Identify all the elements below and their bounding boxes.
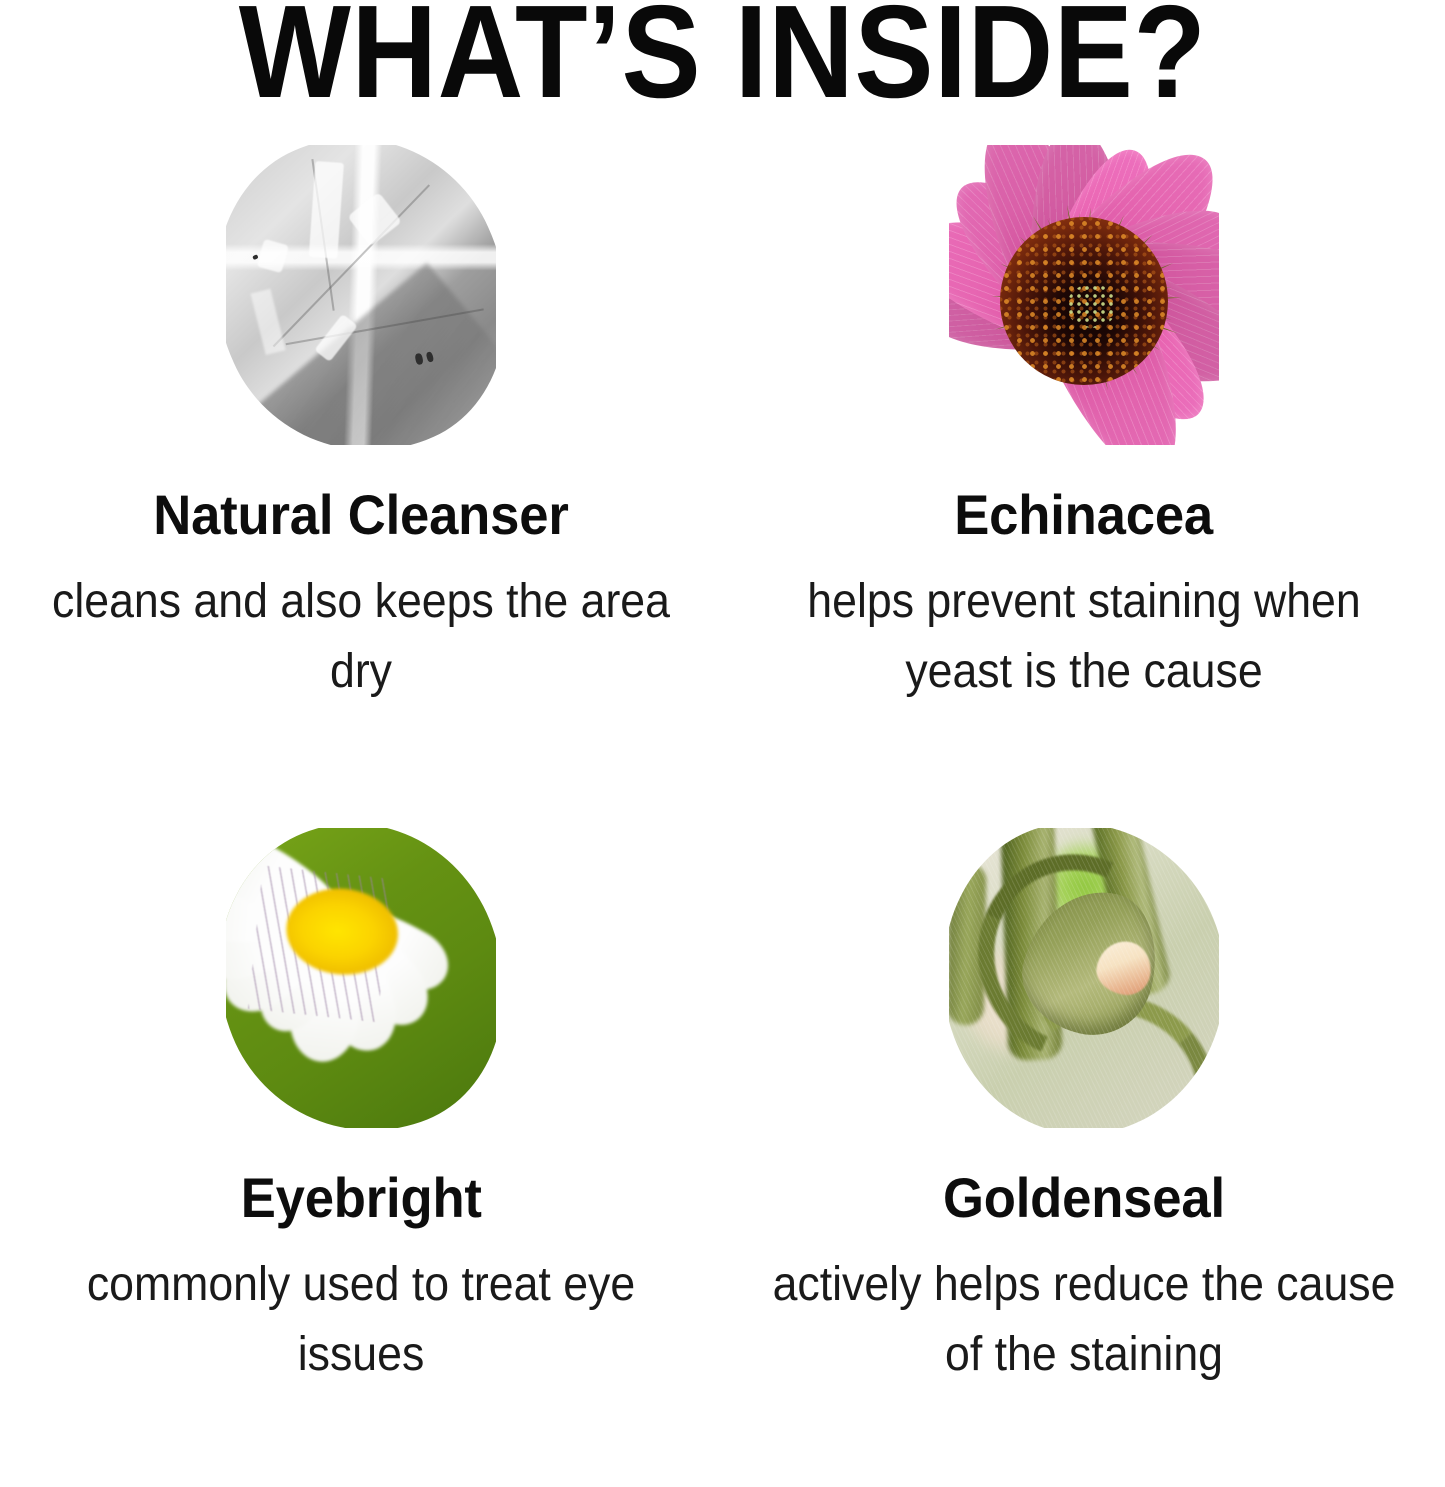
- ingredient-description: helps prevent staining when yeast is the…: [758, 567, 1409, 708]
- goldenseal-plant-image: [949, 828, 1219, 1128]
- echinacea-flower-image: [949, 145, 1219, 445]
- ingredient-card-natural-cleanser: Natural Cleanser cleans and also keeps t…: [0, 120, 722, 803]
- echinacea-center-disc: [1000, 217, 1168, 385]
- ingredient-name: Echinacea: [954, 484, 1213, 547]
- ingredient-card-eyebright: Eyebright commonly used to treat eye iss…: [0, 803, 722, 1487]
- ingredient-description: cleans and also keeps the area dry: [36, 567, 687, 708]
- image-slot: [722, 803, 1445, 1153]
- ingredient-description: commonly used to treat eye issues: [36, 1250, 687, 1391]
- image-slot: [0, 120, 722, 470]
- eyebright-flower-image: [226, 828, 496, 1128]
- ingredient-name: Natural Cleanser: [153, 484, 568, 547]
- ingredient-name: Goldenseal: [943, 1167, 1225, 1230]
- ingredient-name: Eyebright: [240, 1167, 481, 1230]
- quartz-crystal-image: [226, 145, 496, 445]
- image-slot: [0, 803, 722, 1153]
- ingredient-description: actively helps reduce the cause of the s…: [758, 1250, 1409, 1391]
- page-title-container: WHAT’S INSIDE?: [0, 0, 1445, 118]
- page-title: WHAT’S INSIDE?: [239, 0, 1207, 118]
- ingredient-card-echinacea: Echinacea helps prevent staining when ye…: [722, 120, 1445, 803]
- ingredient-grid: Natural Cleanser cleans and also keeps t…: [0, 120, 1445, 1487]
- ingredient-card-goldenseal: Goldenseal actively helps reduce the cau…: [722, 803, 1445, 1487]
- image-slot: [722, 120, 1445, 470]
